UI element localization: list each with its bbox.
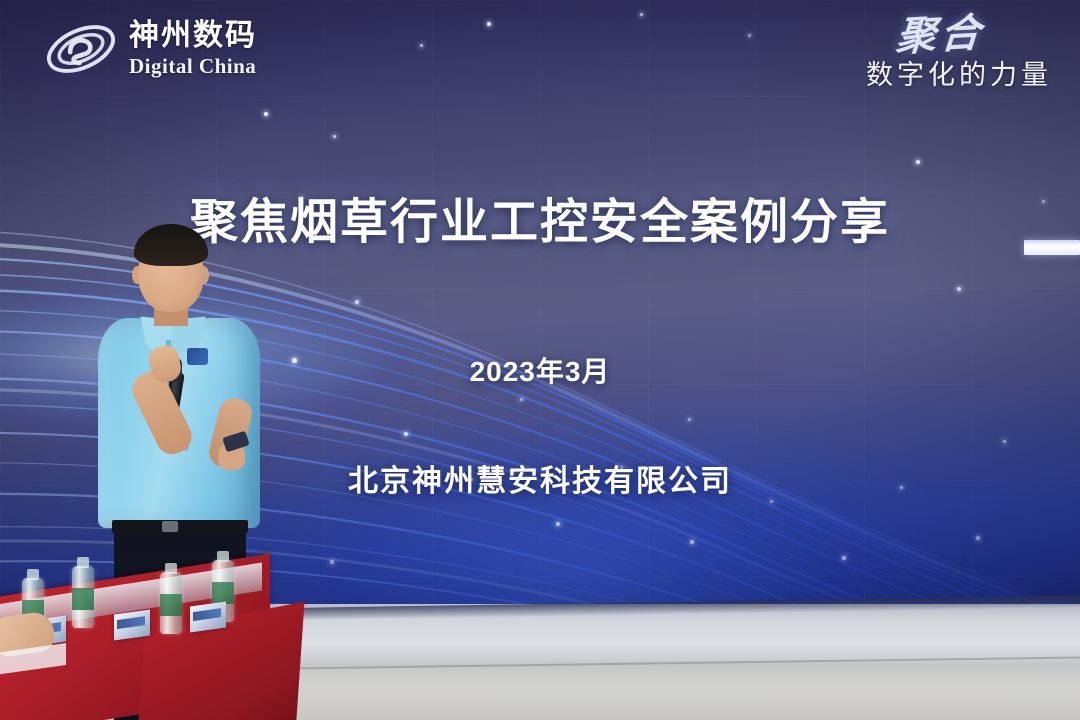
speaker-belt-buckle xyxy=(162,521,178,532)
digital-china-swirl-icon xyxy=(42,18,120,80)
event-logo-subtitle: 数字化的力量 xyxy=(866,62,1052,89)
event-logo-calligraphy: 聚合 xyxy=(864,13,985,59)
speaker-belt xyxy=(112,520,248,533)
digital-china-logo: 神州数码 Digital China xyxy=(42,18,257,80)
water-bottle xyxy=(160,572,182,634)
name-card xyxy=(114,609,150,640)
digital-china-english-name: Digital China xyxy=(129,56,257,77)
water-bottle xyxy=(72,566,94,628)
screen-edge-highlight xyxy=(1024,240,1080,255)
event-logo: 聚合 数字化的力量 xyxy=(866,16,1052,89)
speaker-hair xyxy=(134,224,208,266)
digital-china-chinese-name: 神州数码 xyxy=(129,21,257,51)
speaker-shirt-logo-icon xyxy=(187,348,208,365)
conference-stage-photo: 神州数码 Digital China 聚合 数字化的力量 聚焦烟草行业工控安全案… xyxy=(0,0,1080,720)
name-card xyxy=(190,601,226,632)
